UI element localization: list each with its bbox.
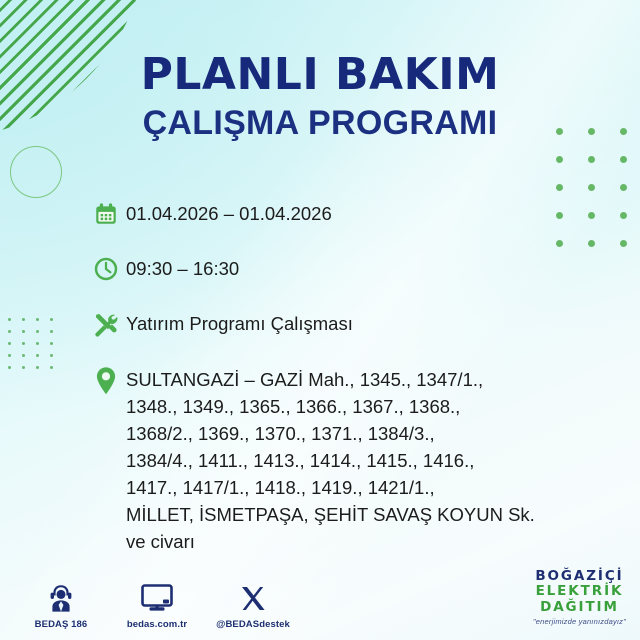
poster-header: PLANLI BAKIM ÇALIŞMA PROGRAMI (0, 52, 640, 144)
x-twitter-icon (216, 580, 290, 614)
outage-date-value: 01.04.2026 – 01.04.2026 (126, 200, 332, 224)
bedas-logo: BOĞAZİÇİ ELEKTRİK DAĞITIM "enerjimizde y… (533, 569, 626, 627)
location-line: 1417., 1417/1., 1418., 1419., 1421/1., (126, 474, 535, 501)
contact-x-account[interactable]: @BEDASdestek (216, 580, 290, 630)
map-pin-icon (86, 365, 126, 400)
location-line: 1384/4., 1411., 1413., 1414., 1415., 141… (126, 447, 535, 474)
location-line: MİLLET, İSMETPAŞA, ŞEHİT SAVAŞ KOYUN Sk. (126, 501, 535, 528)
clock-icon (86, 255, 126, 290)
detail-row-date: 01.04.2026 – 01.04.2026 (86, 200, 600, 235)
logo-line-bogazici: BOĞAZİÇİ (533, 569, 626, 585)
contact-channels: BEDAŞ 186 bedas.com.tr (24, 580, 290, 630)
contact-website-label: bedas.com.tr (120, 619, 194, 630)
logo-line-elektrik: ELEKTRİK (533, 584, 626, 600)
location-value: SULTANGAZİ – GAZİ Mah., 1345., 1347/1., … (126, 365, 535, 555)
poster-footer: BEDAŞ 186 bedas.com.tr (0, 562, 640, 640)
page-title: PLANLI BAKIM (0, 52, 640, 98)
outage-details: 01.04.2026 – 01.04.2026 09:30 – 16:30 (86, 200, 600, 555)
location-line: SULTANGAZİ – GAZİ Mah., 1345., 1347/1., (126, 366, 535, 393)
detail-row-work-type: Yatırım Programı Çalışması (86, 310, 600, 345)
outage-time-value: 09:30 – 16:30 (126, 255, 239, 279)
logo-line-dagitim: DAĞITIM (533, 600, 626, 616)
dot-grid-left-decoration (8, 318, 64, 378)
page-subtitle: ÇALIŞMA PROGRAMI (0, 102, 640, 144)
detail-row-location: SULTANGAZİ – GAZİ Mah., 1345., 1347/1., … (86, 365, 600, 555)
detail-row-time: 09:30 – 16:30 (86, 255, 600, 290)
calendar-icon (86, 200, 126, 235)
contact-x-label: @BEDASdestek (216, 619, 290, 630)
location-line: 1348., 1349., 1365., 1366., 1367., 1368.… (126, 393, 535, 420)
headset-agent-icon (24, 580, 98, 614)
circle-outline-decoration (10, 146, 62, 198)
monitor-icon (120, 580, 194, 614)
contact-call-center-label: BEDAŞ 186 (24, 619, 98, 630)
planned-maintenance-poster: PLANLI BAKIM ÇALIŞMA PROGRAMI (0, 0, 640, 640)
logo-tagline: "enerjimizde yanınızdayız" (533, 617, 626, 626)
contact-call-center[interactable]: BEDAŞ 186 (24, 580, 98, 630)
work-type-value: Yatırım Programı Çalışması (126, 310, 353, 334)
contact-website[interactable]: bedas.com.tr (120, 580, 194, 630)
tools-icon (86, 310, 126, 345)
location-line: 1368/2., 1369., 1370., 1371., 1384/3., (126, 420, 535, 447)
location-line: ve civarı (126, 528, 535, 555)
